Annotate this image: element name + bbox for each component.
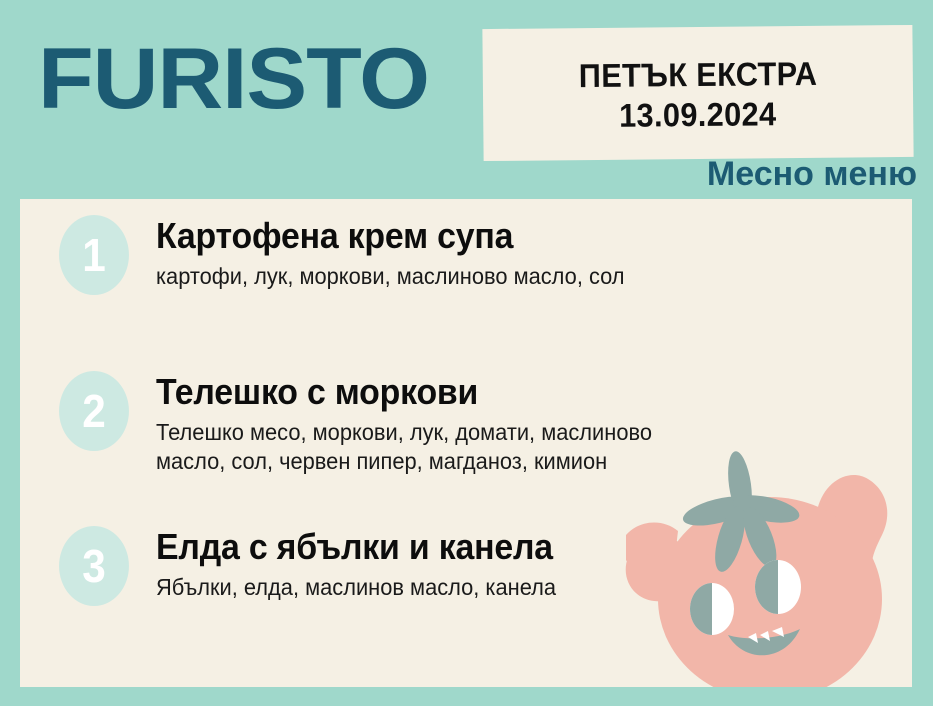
ingredient-line: масло, сол, червен пипер, магданоз, кими…	[156, 447, 652, 476]
menu-kind-label: Месно меню	[707, 157, 917, 191]
menu-panel: 1 Картофена крем супа картофи, лук, морк…	[20, 199, 912, 687]
ingredient-line: картофи, лук, моркови, маслиново масло, …	[156, 262, 625, 291]
menu-item-name: Елда с ябълки и канела	[156, 528, 553, 567]
menu-item-name: Картофена крем супа	[156, 217, 620, 256]
menu-item: 1 Картофена крем супа картофи, лук, морк…	[56, 215, 649, 295]
menu-item-ingredients: Ябълки, елда, маслинов масло, канела	[156, 573, 557, 602]
menu-item-number-badge: 2	[59, 371, 129, 451]
menu-item-number-badge: 3	[59, 526, 129, 606]
menu-item-ingredients: Телешко месо, моркови, лук, домати, масл…	[156, 418, 652, 477]
menu-item-number-badge: 1	[59, 215, 129, 295]
date-card: ПЕТЪК ЕКСТРА 13.09.2024	[482, 25, 913, 161]
date-card-title: ПЕТЪК ЕКСТРА	[578, 55, 817, 96]
ingredient-line: Телешко месо, моркови, лук, домати, масл…	[156, 418, 652, 447]
menu-item: 2 Телешко с моркови Телешко месо, морков…	[56, 371, 678, 477]
date-card-date: 13.09.2024	[619, 94, 777, 135]
ingredient-line: Ябълки, елда, маслинов масло, канела	[156, 573, 557, 602]
brand-logo: FURISTO	[38, 36, 429, 122]
menu-item-name: Телешко с моркови	[156, 373, 647, 412]
menu-poster: FURISTO ПЕТЪК ЕКСТРА 13.09.2024 Месно ме…	[0, 0, 933, 706]
menu-item: 3 Елда с ябълки и канела Ябълки, елда, м…	[56, 526, 578, 606]
menu-item-ingredients: картофи, лук, моркови, маслиново масло, …	[156, 262, 625, 291]
